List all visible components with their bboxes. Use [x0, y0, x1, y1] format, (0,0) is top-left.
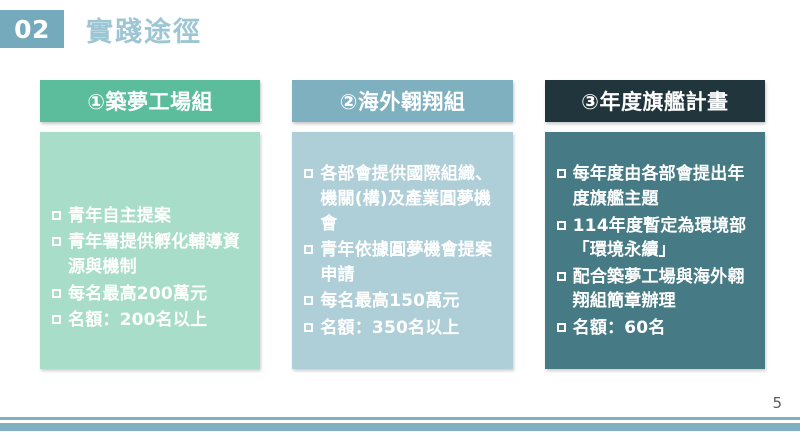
bullet-list: 青年自主提案青年署提供孵化輔導資源與機制每名最高200萬元名額：200名以上: [52, 204, 250, 335]
bullet-text: 每年度由各部會提出年度旗艦主題: [573, 162, 755, 211]
footer-rule-thick: [0, 423, 800, 431]
page-title: 實踐途徑: [86, 10, 202, 48]
card-dream-factory: ①築夢工場組 青年自主提案青年署提供孵化輔導資源與機制每名最高200萬元名額：2…: [40, 80, 260, 369]
checkbox-square-icon: [557, 323, 566, 332]
card-annual-flagship: ③年度旗艦計畫 每年度由各部會提出年度旗艦主題114年度暫定為環境部「環境永續」…: [545, 80, 765, 369]
bullet-text: 青年署提供孵化輔導資源與機制: [68, 230, 250, 279]
cards-row: ①築夢工場組 青年自主提案青年署提供孵化輔導資源與機制每名最高200萬元名額：2…: [40, 80, 765, 369]
bullet-list: 每年度由各部會提出年度旗艦主題114年度暫定為環境部「環境永續」配合築夢工場與海…: [557, 162, 755, 342]
card-dream-factory-body: 青年自主提案青年署提供孵化輔導資源與機制每名最高200萬元名額：200名以上: [40, 132, 260, 369]
checkbox-square-icon: [304, 296, 313, 305]
card-overseas-soaring: ②海外翱翔組 各部會提供國際組織、機關(構)及產業圓夢機會青年依據圓夢機會提案申…: [292, 80, 512, 369]
slide-header: 02 實踐途徑: [0, 10, 202, 48]
bullet-text: 各部會提供國際組織、機關(構)及產業圓夢機會: [320, 162, 502, 236]
bullet-item: 每名最高150萬元: [304, 289, 502, 314]
checkbox-square-icon: [304, 245, 313, 254]
checkbox-square-icon: [52, 289, 61, 298]
bullet-item: 青年依據圓夢機會提案申請: [304, 238, 502, 287]
checkbox-square-icon: [557, 169, 566, 178]
card-overseas-soaring-header: ②海外翱翔組: [292, 80, 512, 122]
bullet-text: 每名最高200萬元: [68, 282, 250, 307]
bullet-text: 青年自主提案: [68, 204, 250, 229]
bullet-item: 名額：60名: [557, 316, 755, 341]
bullet-item: 名額：350名以上: [304, 316, 502, 341]
bullet-item: 青年自主提案: [52, 204, 250, 229]
bullet-text: 配合築夢工場與海外翱翔組簡章辦理: [573, 265, 755, 314]
checkbox-square-icon: [304, 323, 313, 332]
bullet-item: 各部會提供國際組織、機關(構)及產業圓夢機會: [304, 162, 502, 236]
card-annual-flagship-body: 每年度由各部會提出年度旗艦主題114年度暫定為環境部「環境永續」配合築夢工場與海…: [545, 132, 765, 369]
page-number: 5: [772, 394, 782, 412]
bullet-text: 每名最高150萬元: [320, 289, 502, 314]
bullet-text: 114年度暫定為環境部「環境永續」: [573, 214, 755, 263]
footer-rule-thin: [0, 417, 800, 420]
bullet-item: 青年署提供孵化輔導資源與機制: [52, 230, 250, 279]
checkbox-square-icon: [557, 221, 566, 230]
checkbox-square-icon: [304, 169, 313, 178]
bullet-item: 名額：200名以上: [52, 308, 250, 333]
bullet-text: 青年依據圓夢機會提案申請: [320, 238, 502, 287]
bullet-item: 每年度由各部會提出年度旗艦主題: [557, 162, 755, 211]
bullet-text: 名額：200名以上: [68, 308, 250, 333]
checkbox-square-icon: [52, 211, 61, 220]
bullet-item: 配合築夢工場與海外翱翔組簡章辦理: [557, 265, 755, 314]
bullet-item: 114年度暫定為環境部「環境永續」: [557, 214, 755, 263]
checkbox-square-icon: [52, 237, 61, 246]
checkbox-square-icon: [557, 272, 566, 281]
section-number-badge: 02: [0, 10, 64, 48]
bullet-item: 每名最高200萬元: [52, 282, 250, 307]
bullet-text: 名額：60名: [573, 316, 755, 341]
card-annual-flagship-header: ③年度旗艦計畫: [545, 80, 765, 122]
card-overseas-soaring-body: 各部會提供國際組織、機關(構)及產業圓夢機會青年依據圓夢機會提案申請每名最高15…: [292, 132, 512, 369]
bullet-list: 各部會提供國際組織、機關(構)及產業圓夢機會青年依據圓夢機會提案申請每名最高15…: [304, 162, 502, 342]
checkbox-square-icon: [52, 315, 61, 324]
card-dream-factory-header: ①築夢工場組: [40, 80, 260, 122]
bullet-text: 名額：350名以上: [320, 316, 502, 341]
